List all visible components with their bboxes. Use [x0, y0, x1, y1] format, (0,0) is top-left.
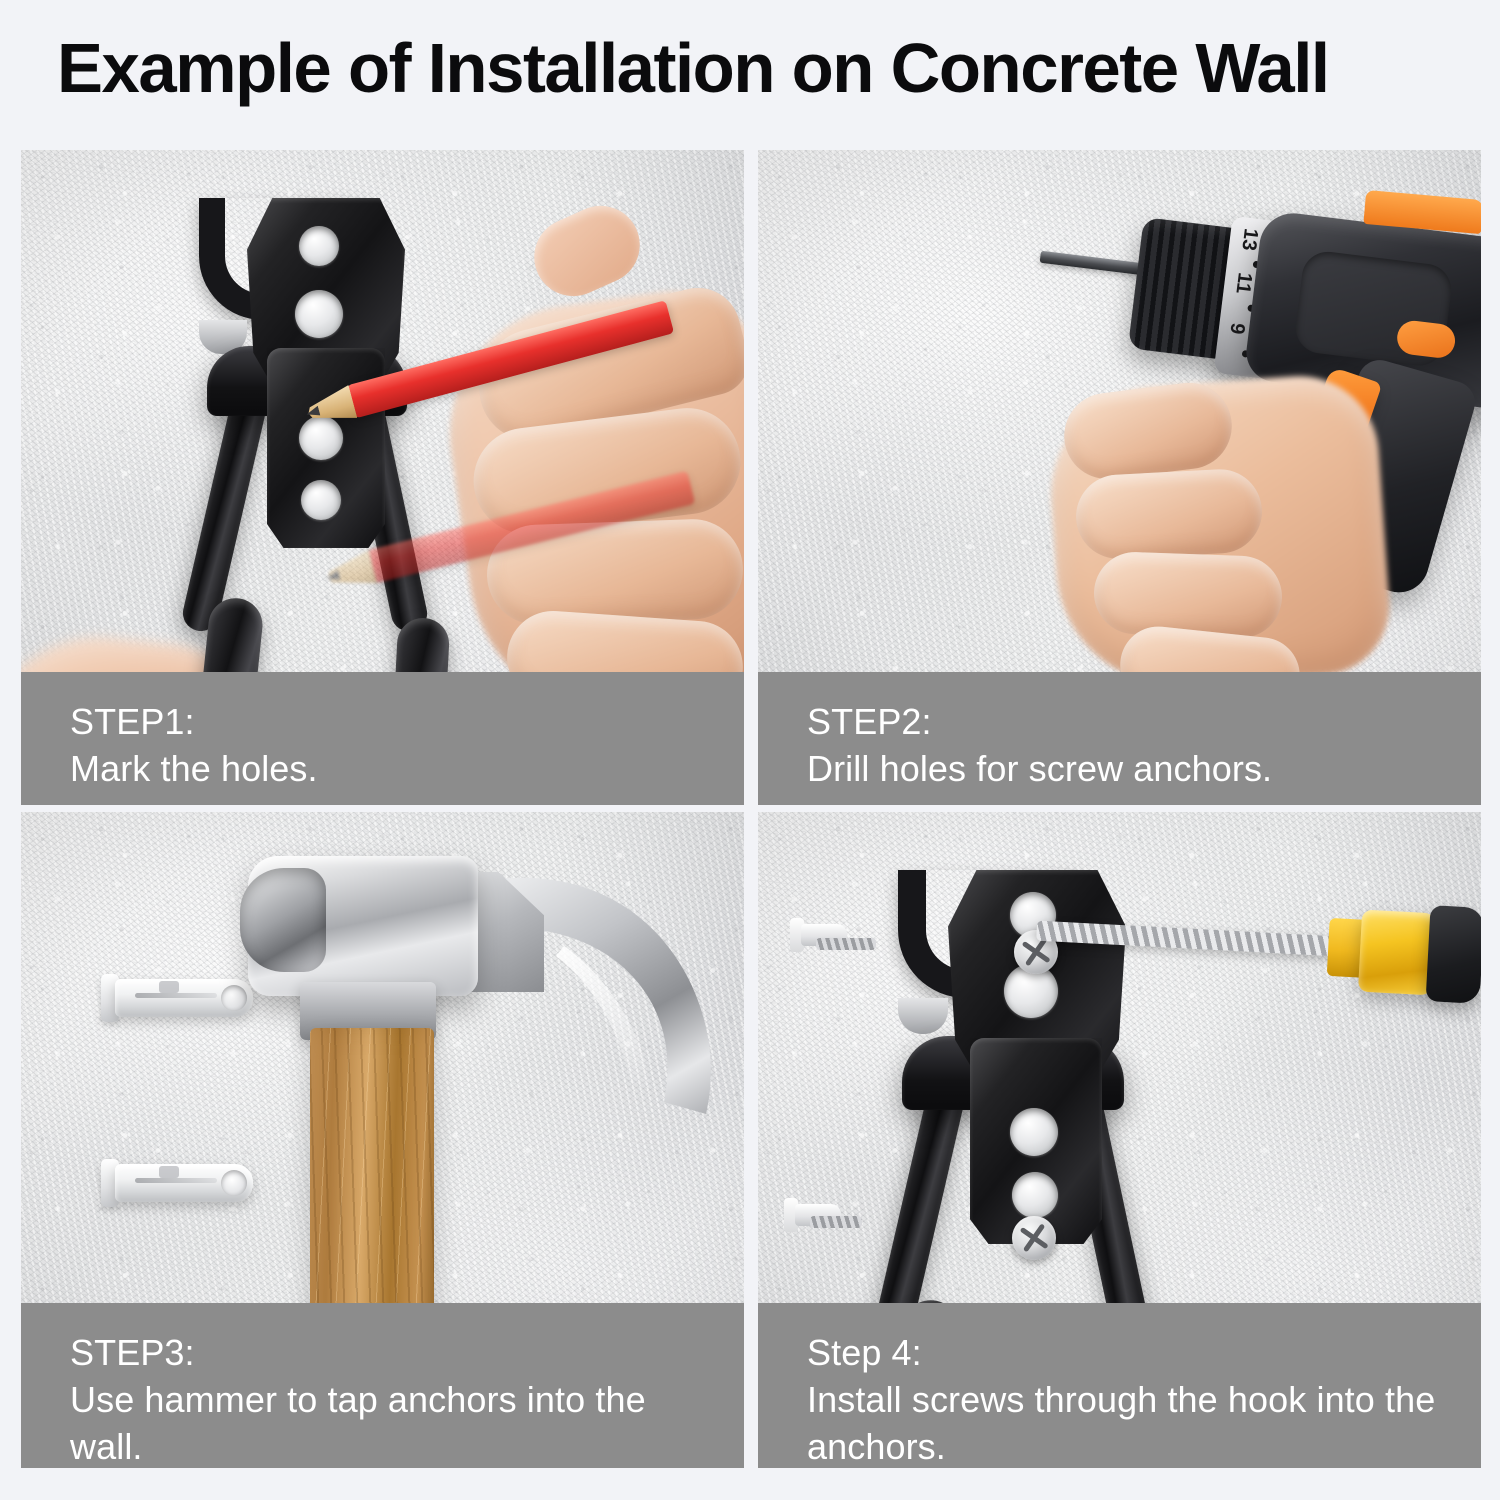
screwdriver-grip-end	[1426, 905, 1481, 1004]
step-caption-2: STEP2: Drill holes for screw anchors.	[758, 672, 1481, 805]
screw-head	[1012, 1216, 1056, 1260]
step-panel-1: STEP1: Mark the holes.	[21, 150, 744, 805]
finger	[1093, 551, 1284, 640]
screw-shank	[816, 938, 876, 950]
step-label: STEP2:	[807, 698, 1481, 745]
anchor-slit	[135, 993, 217, 998]
step-label: STEP3:	[70, 1329, 744, 1376]
clutch-number-11: 11	[1230, 271, 1255, 295]
screwdriver	[1033, 879, 1475, 1022]
page-title: Example of Installation on Concrete Wall	[57, 33, 1329, 103]
anchor-slit	[135, 1178, 217, 1183]
screw-shank	[810, 1216, 862, 1228]
mounting-hole	[295, 290, 343, 338]
mounting-hole	[1012, 1172, 1058, 1218]
step-caption-3: STEP3: Use hammer to tap anchors into th…	[21, 1303, 744, 1468]
step-text: Drill holes for screw anchors.	[807, 745, 1437, 792]
hook-chrome-tip	[898, 998, 948, 1034]
mounting-hole	[299, 226, 339, 266]
steps-grid: STEP1: Mark the holes. 13 11 9	[21, 150, 1481, 1468]
step-panel-4: Step 4: Install screws through the hook …	[758, 812, 1481, 1468]
drill-bit	[1040, 251, 1149, 276]
hammer-face	[240, 868, 326, 972]
step-text: Install screws through the hook into the…	[807, 1376, 1437, 1468]
step-text: Mark the holes.	[70, 745, 700, 792]
finger	[1074, 467, 1264, 561]
step-caption-4: Step 4: Install screws through the hook …	[758, 1303, 1481, 1468]
step-label: Step 4:	[807, 1329, 1481, 1376]
step-panel-3: STEP3: Use hammer to tap anchors into th…	[21, 812, 744, 1468]
mounting-hole	[1010, 1108, 1058, 1156]
step-label: STEP1:	[70, 698, 744, 745]
anchor-notch	[159, 981, 179, 993]
mounting-hole	[301, 480, 341, 520]
step-text: Use hammer to tap anchors into the wall.	[70, 1376, 700, 1468]
mounting-hole	[299, 416, 343, 460]
anchor-notch	[159, 1166, 179, 1178]
step-caption-1: STEP1: Mark the holes.	[21, 672, 744, 805]
screwdriver-shaft	[1036, 921, 1339, 957]
step-panel-2: 13 11 9 STEP2: Drill holes for screw anc…	[758, 150, 1481, 805]
